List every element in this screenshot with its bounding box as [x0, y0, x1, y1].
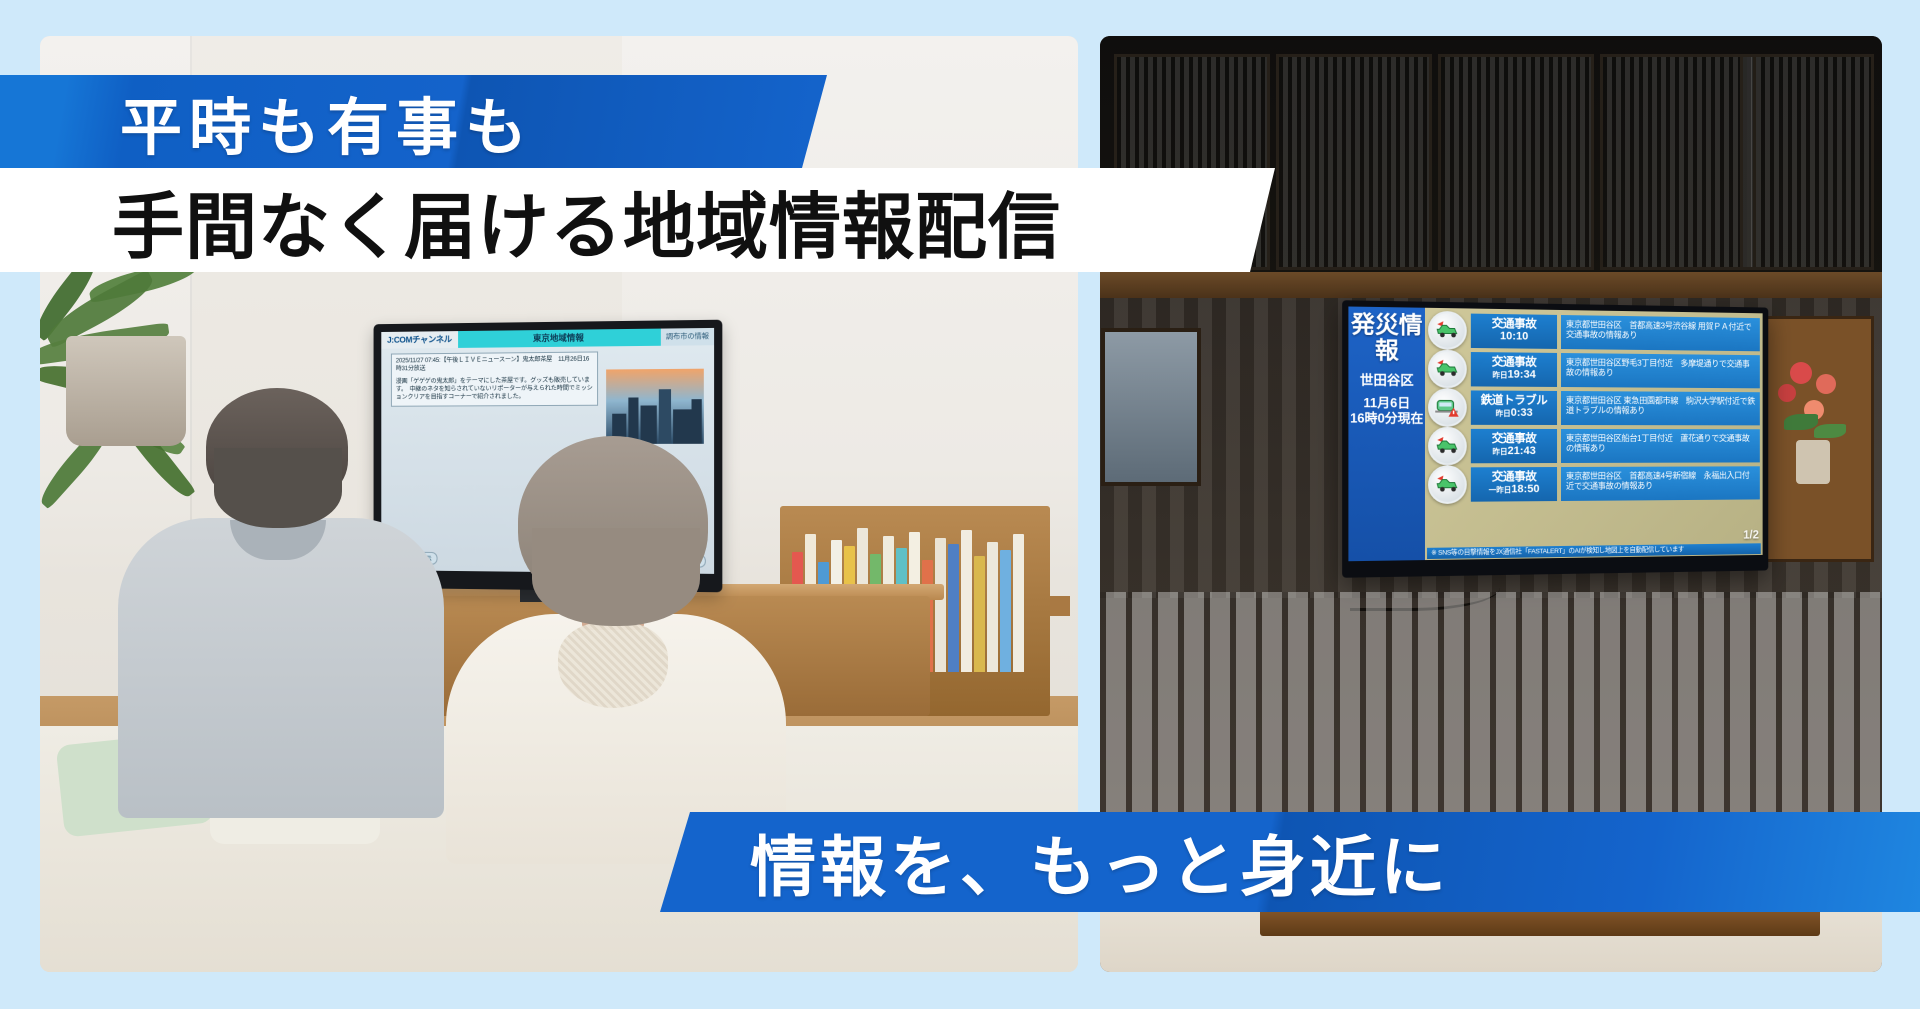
alert-kind-time: 交通事故 一昨日18:50: [1471, 467, 1557, 502]
alert-kind-time: 交通事故 10:10: [1471, 313, 1557, 348]
alert-time: 昨日21:43: [1492, 445, 1535, 458]
alert-kind-time: 交通事故 昨日19:34: [1471, 352, 1557, 387]
person-woman: [440, 436, 790, 816]
signage-title-panel: 発災情報 世田谷区 11月6日 16時0分現在: [1348, 306, 1425, 561]
flower-arrangement: [1770, 356, 1860, 486]
alert-description: 東京都世田谷区野毛3丁目付近 多摩堤通りで交通事故の情報あり: [1561, 353, 1760, 388]
headline-band-main: 手間なく届ける地域情報配信: [0, 168, 1275, 272]
alert-description: 東京都世田谷区船台1丁目付近 蘆花通りで交通事故の情報あり: [1561, 429, 1760, 463]
car-accident-icon: [1428, 426, 1467, 465]
alert-kind-time: 鉄道トラブル 昨日0:33: [1471, 390, 1557, 425]
disaster-info-signage: 発災情報 世田谷区 11月6日 16時0分現在: [1342, 300, 1768, 578]
banner-root: J:COMチャンネル 東京地域情報 調布市の情報 2025/11/27 07:4…: [0, 0, 1920, 1009]
tv-tab-channel[interactable]: J:COMチャンネル: [381, 331, 457, 349]
hall-window: [1438, 54, 1594, 270]
alert-row[interactable]: 鉄道トラブル 昨日0:33 東京都世田谷区 東急田園都市線 駒沢大学駅付近で鉄道…: [1428, 389, 1760, 425]
signage-date: 11月6日: [1363, 396, 1410, 411]
hall-window: [1600, 54, 1756, 270]
headline-main-text: 手間なく届ける地域情報配信: [112, 168, 1061, 273]
alert-row[interactable]: 交通事故 昨日21:43 東京都世田谷区船台1丁目付近 蘆花通りで交通事故の情報…: [1428, 428, 1760, 464]
hall-beam: [1100, 272, 1882, 298]
signage-time: 16時0分現在: [1350, 411, 1423, 425]
headline-bottom-text: 情報を、もっと身近に: [750, 814, 1450, 910]
headline-top-text: 平時も有事も: [120, 77, 534, 167]
alert-time: 一昨日18:50: [1489, 483, 1540, 496]
alert-time: 昨日19:34: [1492, 368, 1535, 381]
tv-article-headline: 2025/11/27 07:45:【午後ＬＩＶＥニュースーン】鬼太郎茶屋 11月…: [396, 356, 593, 373]
alert-row[interactable]: 交通事故 一昨日18:50 東京都世田谷区 首都高速4号新宿線 永福出入口付近で…: [1428, 465, 1760, 502]
person-man: [118, 388, 448, 808]
alert-kind: 交通事故: [1492, 433, 1537, 445]
tv-header: J:COMチャンネル 東京地域情報 調布市の情報: [381, 328, 714, 349]
alert-time: 昨日0:33: [1496, 407, 1533, 420]
alert-kind: 鉄道トラブル: [1481, 395, 1548, 407]
signage-screen: 発災情報 世田谷区 11月6日 16時0分現在: [1348, 306, 1762, 561]
car-accident-icon: [1428, 465, 1467, 504]
alert-description: 東京都世田谷区 首都高速4号新宿線 永福出入口付近で交通事故の情報あり: [1561, 466, 1760, 501]
train-trouble-icon: [1428, 388, 1467, 427]
car-accident-icon: [1428, 349, 1467, 388]
signage-footnote: ※ SNS等の目撃情報をJX通信社「FASTALERT」のAIが検知し地図上を自…: [1427, 543, 1761, 559]
signage-title: 発災情報: [1348, 312, 1425, 364]
alert-kind: 交通事故: [1492, 318, 1537, 331]
headline-band-top: 平時も有事も: [0, 75, 827, 168]
alert-description: 東京都世田谷区 東急田園都市線 駒沢大学駅付近で鉄道トラブルの情報あり: [1561, 391, 1760, 425]
stage-curtain: [1100, 592, 1882, 842]
signage-ward: 世田谷区: [1360, 369, 1414, 389]
alert-row[interactable]: 交通事故 10:10 東京都世田谷区 首都高速3号渋谷線 用賀ＰＡ付近で交通事故…: [1428, 312, 1760, 351]
headline-band-bottom: 情報を、もっと身近に: [660, 812, 1920, 912]
hall-picture: [1101, 328, 1201, 486]
alert-kind-time: 交通事故 昨日21:43: [1471, 428, 1557, 462]
tv-tab-city[interactable]: 調布市の情報: [661, 328, 714, 346]
signage-page-indicator: 1/2: [1743, 528, 1759, 542]
car-accident-icon: [1428, 310, 1467, 349]
alert-kind: 交通事故: [1492, 471, 1537, 483]
signage-alert-list: 交通事故 10:10 東京都世田谷区 首都高速3号渋谷線 用賀ＰＡ付近で交通事故…: [1425, 308, 1763, 560]
alert-kind: 交通事故: [1492, 356, 1537, 369]
alert-row[interactable]: 交通事故 昨日19:34 東京都世田谷区野毛3丁目付近 多摩堤通りで交通事故の情…: [1428, 351, 1760, 389]
hall-window: [1276, 54, 1432, 270]
alert-description: 東京都世田谷区 首都高速3号渋谷線 用賀ＰＡ付近で交通事故の情報あり: [1561, 315, 1760, 351]
tv-tab-region[interactable]: 東京地域情報: [458, 329, 661, 348]
hall-window: [1740, 54, 1874, 270]
alert-time: 10:10: [1500, 330, 1528, 343]
tv-article-thumbnail: [606, 369, 704, 444]
